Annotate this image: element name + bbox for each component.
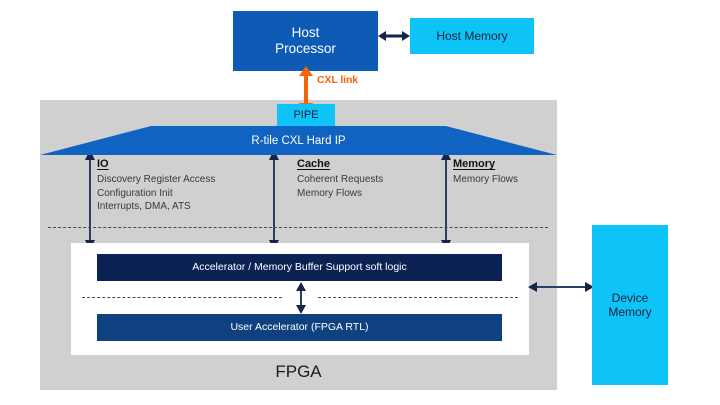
soft-logic-divider-right [318, 297, 518, 298]
soft-logic-divider-left [82, 297, 282, 298]
device-memory-label-line1: Device [612, 291, 649, 305]
cache-channel-arrow-icon [268, 150, 280, 250]
accelerator-memory-buffer-bar: Accelerator / Memory Buffer Support soft… [97, 254, 502, 281]
memory-channel-text: Memory Memory Flows [453, 158, 553, 187]
cache-channel-text: Cache Coherent Requests Memory Flows [297, 158, 447, 200]
io-channel-text: IO Discovery Register Access Configurati… [97, 158, 267, 214]
host-processor-block: Host Processor [233, 11, 378, 71]
device-memory-arrow-icon [528, 280, 594, 294]
pipe-block: PIPE [277, 104, 335, 126]
cache-channel-lines: Coherent Requests Memory Flows [297, 173, 447, 200]
soft-logic-interface-arrow-icon [294, 282, 308, 314]
hard-ip-boundary-divider [48, 227, 548, 228]
host-memory-label: Host Memory [436, 29, 507, 43]
device-memory-block: Device Memory [592, 225, 668, 385]
io-channel-title: IO [97, 158, 267, 170]
rtile-cxl-hard-ip-block: R-tile CXL Hard IP [40, 126, 557, 155]
io-channel-arrow-icon [84, 150, 96, 250]
memory-channel-title: Memory [453, 158, 553, 170]
host-processor-label-line2: Processor [275, 41, 336, 56]
accelerator-bar-label: Accelerator / Memory Buffer Support soft… [192, 261, 407, 273]
device-memory-label-line2: Memory [608, 305, 651, 319]
cache-channel-title: Cache [297, 158, 447, 170]
host-memory-block: Host Memory [410, 18, 534, 54]
user-accelerator-bar: User Accelerator (FPGA RTL) [97, 314, 502, 341]
fpga-label: FPGA [40, 358, 557, 386]
fpga-label-text: FPGA [275, 362, 321, 382]
io-channel-lines: Discovery Register Access Configuration … [97, 173, 267, 214]
user-accelerator-label: User Accelerator (FPGA RTL) [230, 321, 368, 333]
memory-channel-lines: Memory Flows [453, 173, 553, 187]
cxl-link-label: CXL link [317, 74, 358, 86]
host-processor-label-line1: Host [292, 25, 320, 40]
host-to-memory-arrow-icon [378, 28, 410, 44]
rtile-label: R-tile CXL Hard IP [40, 126, 557, 155]
pipe-label: PIPE [293, 109, 318, 122]
